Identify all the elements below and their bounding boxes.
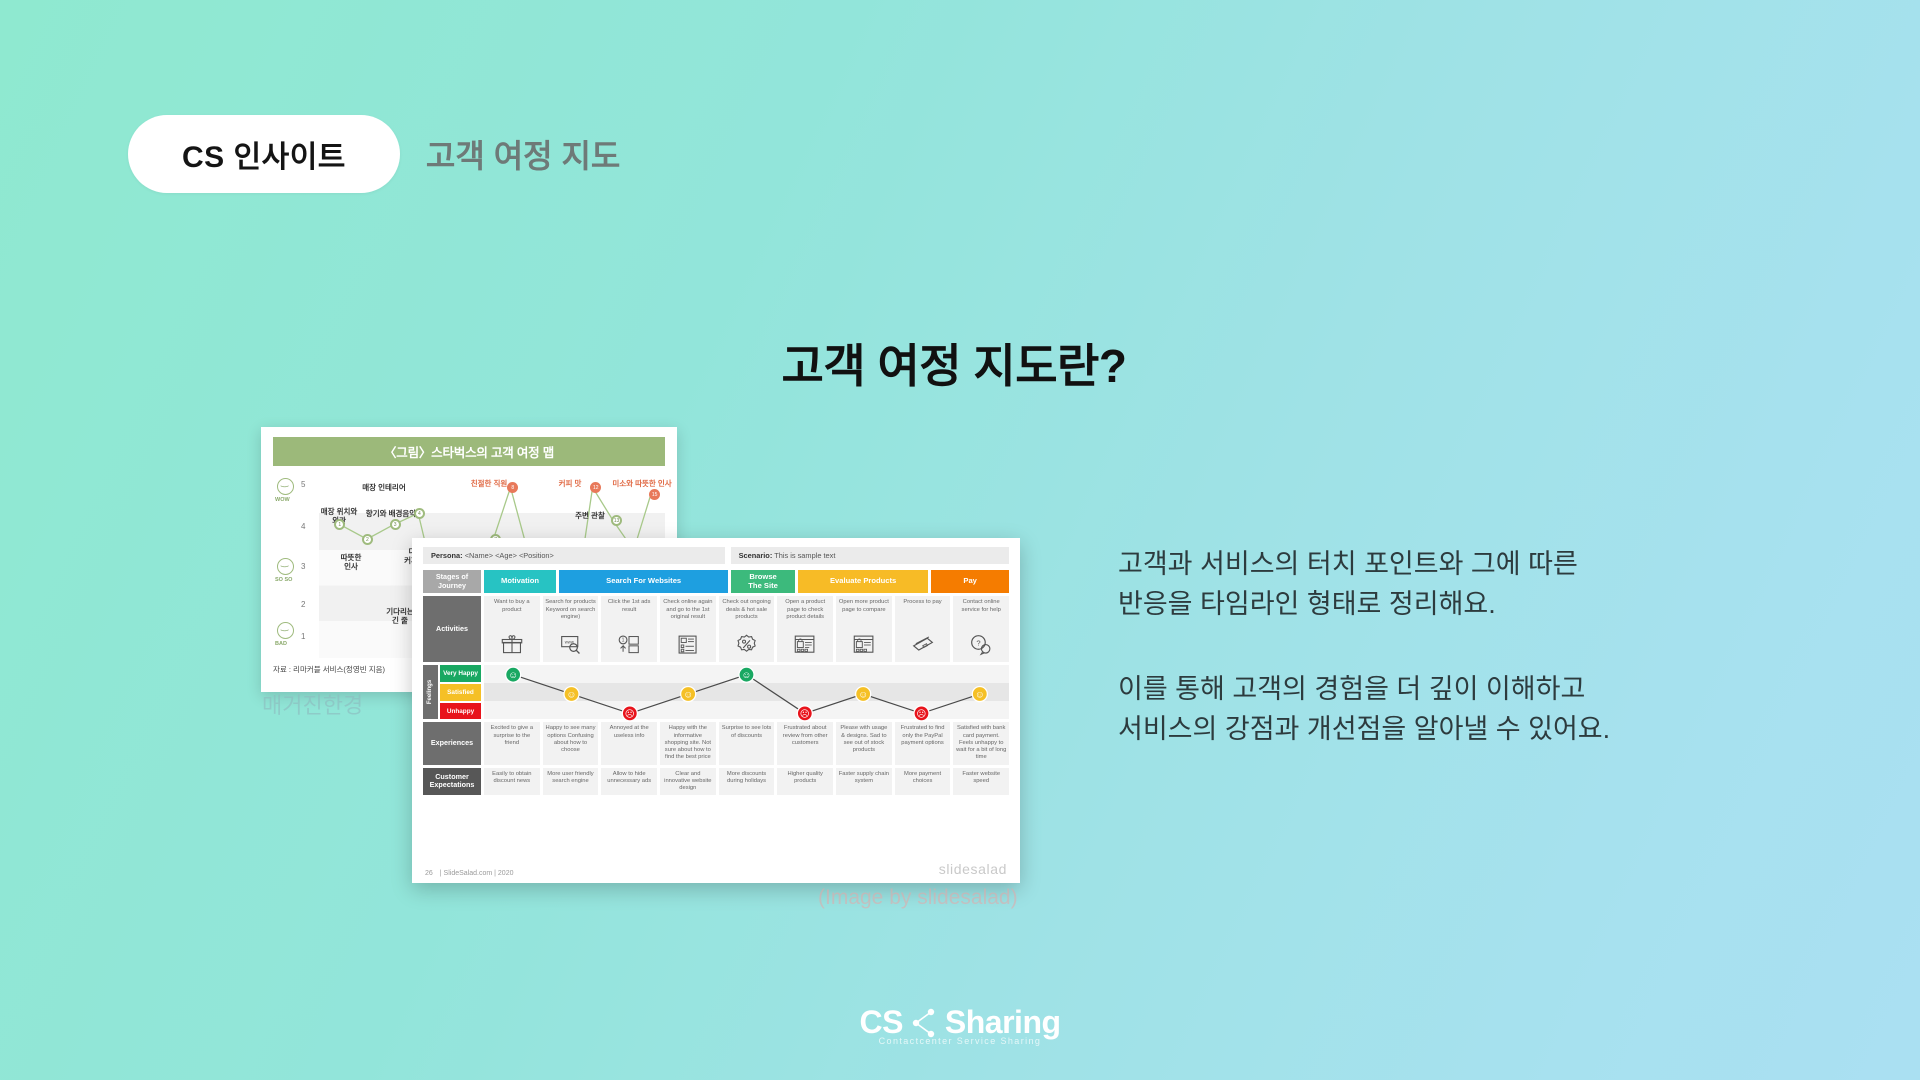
product-page-icon: [794, 634, 816, 656]
feeling-face-0: ☺: [506, 668, 521, 683]
activity-cell-2: Click the 1st ads result1: [601, 596, 657, 662]
starbucks-point-3: 4: [414, 508, 425, 519]
feeling-face-1: ☺: [564, 687, 579, 702]
cs-insight-badge: CS 인사이트: [128, 115, 400, 193]
stage-3[interactable]: Evaluate Products: [798, 570, 928, 593]
svg-text:☺: ☺: [683, 690, 693, 701]
logo-sharing-text: Sharing: [945, 1004, 1061, 1041]
expectation-cell-1: More user friendly search engine: [543, 768, 599, 796]
cs-insight-badge-label: CS 인사이트: [182, 132, 346, 176]
feeling-face-3: ☺: [681, 687, 696, 702]
scenario-value: This is sample text: [774, 551, 835, 560]
activity-text-6: Open more product page to compare: [838, 599, 890, 613]
expectation-cell-4: More discounts during holidays: [719, 768, 775, 796]
starbucks-point-1: 2: [362, 534, 373, 545]
activity-text-1: Search for products Keyword on search en…: [545, 599, 597, 621]
credit-card-icon: [912, 634, 934, 656]
compare-page-icon: [853, 634, 875, 656]
feeling-face-7: ☹: [914, 706, 929, 721]
activity-cell-5: Open a product page to check product det…: [777, 596, 833, 662]
gift-icon: [501, 634, 523, 656]
bad-face-icon: [277, 622, 294, 639]
stages-container: MotivationSearch For WebsitesBrowse The …: [484, 570, 1009, 593]
y-tick-1: 1: [301, 632, 305, 641]
discount-badge-icon: [736, 634, 758, 656]
expectation-cell-3: Clear and innovative website design: [660, 768, 716, 796]
stage-2[interactable]: Browse The Site: [731, 570, 795, 593]
expectation-cell-2: Allow to hide unnecessary ads: [601, 768, 657, 796]
svg-text:☹: ☹: [916, 708, 926, 720]
y-tick-2: 2: [301, 600, 305, 609]
bad-face-label: BAD: [275, 641, 287, 647]
stages-row: Stages of Journey MotivationSearch For W…: [423, 570, 1009, 593]
page-title: 고객 여정 지도란?: [0, 330, 1920, 396]
feeling-level-very-happy: Very Happy: [440, 665, 481, 682]
feeling-face-6: ☺: [856, 687, 871, 702]
expectation-cell-5: Higher quality products: [777, 768, 833, 796]
persona-scenario-row: Persona: <Name> <Age> <Position> Scenari…: [423, 547, 1009, 564]
journey-map-grid: Stages of Journey MotivationSearch For W…: [423, 570, 1009, 856]
experiences-container: Excited to give a surprise to the friend…: [484, 722, 1009, 764]
page-number: 26: [425, 870, 433, 877]
expectation-cell-6: Faster supply chain system: [836, 768, 892, 796]
experience-cell-0: Excited to give a surprise to the friend: [484, 722, 540, 764]
slidesalad-footer: 26 | SlideSalad.com | 2020 slidesalad: [423, 861, 1009, 877]
y-tick-4: 4: [301, 522, 305, 531]
activity-cell-6: Open more product page to compare: [836, 596, 892, 662]
feeling-level-unhappy: Unhappy: [440, 703, 481, 720]
experience-cell-7: Frustrated to find only the PayPal payme…: [895, 722, 951, 764]
expectation-cell-0: Easily to obtain discount news: [484, 768, 540, 796]
svg-text:☹: ☹: [800, 708, 810, 720]
activity-cell-8: Contact online service for help?: [953, 596, 1009, 662]
compare-page-icon: [853, 634, 875, 656]
svg-text:☺: ☺: [858, 690, 868, 701]
form-list-icon: [677, 634, 699, 656]
soso-face-label: SO SO: [275, 577, 292, 583]
experiences-row: Experiences Excited to give a surprise t…: [423, 722, 1009, 764]
back-image-caption: 매거진한경: [262, 688, 363, 720]
footer-note: | SlideSalad.com | 2020: [440, 870, 514, 877]
feeling-face-5: ☹: [797, 706, 812, 721]
body-paragraph-2: 이를 통해 고객의 경험을 더 깊이 이해하고 서비스의 강점과 개선점을 알아…: [1118, 670, 1818, 749]
feeling-level-satisfied: Satisfied: [440, 684, 481, 701]
body-paragraph-1: 고객과 서비스의 터치 포인트와 그에 따른 반응을 타임라인 형태로 정리해요…: [1118, 545, 1818, 624]
activity-cell-4: Check out ongoing deals & hot sale produ…: [719, 596, 775, 662]
starbucks-map-title: 〈그림〉스타벅스의 고객 여정 맵: [273, 437, 665, 466]
y-tick-5: 5: [301, 480, 305, 489]
stages-row-header: Stages of Journey: [423, 570, 481, 593]
help-chat-icon: ?: [970, 634, 992, 656]
expectations-row: Customer Expectations Easily to obtain d…: [423, 768, 1009, 796]
experience-cell-5: Frustrated about review from other custo…: [777, 722, 833, 764]
expectation-cell-7: More payment choices: [895, 768, 951, 796]
activities-row: Activities Want to buy a productSearch f…: [423, 596, 1009, 662]
slide-header: CS 인사이트 고객 여정 지도: [128, 115, 620, 193]
scenario-label: Scenario:: [739, 551, 773, 560]
sb-label-8: 주변 관찰: [567, 512, 613, 521]
product-page-icon: [794, 634, 816, 656]
gift-icon: [501, 634, 523, 656]
persona-value: <Name> <Age> <Position>: [465, 551, 554, 560]
experience-cell-3: Happy with the informative shopping site…: [660, 722, 716, 764]
svg-text:☹: ☹: [625, 708, 635, 720]
feelings-row: Feelings Very HappySatisfiedUnhappy ☺☺☹☺…: [423, 665, 1009, 719]
activities-container: Want to buy a productSearch for products…: [484, 596, 1009, 662]
svg-text:1: 1: [622, 638, 625, 644]
experience-cell-8: Satisfied with bank card payment. Feels …: [953, 722, 1009, 764]
svg-text:?: ?: [977, 639, 981, 648]
help-chat-icon: ?: [970, 634, 992, 656]
soso-face-icon: [277, 558, 294, 575]
activity-text-0: Want to buy a product: [486, 599, 538, 613]
activity-cell-0: Want to buy a product: [484, 596, 540, 662]
scenario-field: Scenario: This is sample text: [731, 547, 1009, 564]
feeling-face-2: ☹: [622, 706, 637, 721]
page-title-text: 고객 여정 지도란?: [782, 330, 1127, 396]
stage-4[interactable]: Pay: [931, 570, 1009, 593]
activity-text-7: Process to pay: [903, 599, 941, 606]
front-image-caption: (Image by slidesalad): [818, 886, 1018, 910]
header-subtitle: 고객 여정 지도: [426, 131, 620, 177]
feelings-side-label: Feelings: [423, 665, 438, 719]
svg-text:☺: ☺: [742, 671, 752, 682]
stage-1[interactable]: Search For Websites: [559, 570, 728, 593]
search-web-icon: www: [560, 634, 582, 656]
feelings-plot: ☺☺☹☺☺☹☺☹☺: [484, 665, 1009, 719]
discount-badge-icon: [736, 634, 758, 656]
slidesalad-brand: slidesalad: [939, 861, 1007, 877]
network-node-icon: [911, 1008, 937, 1038]
experience-cell-1: Happy to see many options Confusing abou…: [543, 722, 599, 764]
activity-cell-3: Check online again and go to the 1st ori…: [660, 596, 716, 662]
feelings-side-text: Feelings: [428, 680, 434, 704]
activity-cell-1: Search for products Keyword on search en…: [543, 596, 599, 662]
feelings-trend-line: ☺☺☹☺☺☹☺☹☺: [484, 665, 1009, 723]
expectations-container: Easily to obtain discount newsMore user …: [484, 768, 1009, 796]
svg-text:☺: ☺: [508, 671, 518, 682]
feeling-face-8: ☺: [972, 687, 987, 702]
activity-text-2: Click the 1st ads result: [603, 599, 655, 613]
search-web-icon: www: [560, 634, 582, 656]
experience-cell-6: Please with usage & designs. Sad to see …: [836, 722, 892, 764]
sb-label-7: 커피 맛: [547, 480, 593, 489]
activities-row-header: Activities: [423, 596, 481, 662]
form-list-icon: [677, 634, 699, 656]
y-tick-3: 3: [301, 562, 305, 571]
activity-text-5: Open a product page to check product det…: [779, 599, 831, 621]
experiences-row-header: Experiences: [423, 722, 481, 764]
activity-text-8: Contact online service for help: [955, 599, 1007, 613]
activity-cell-7: Process to pay: [895, 596, 951, 662]
slidesalad-journey-map-image: Persona: <Name> <Age> <Position> Scenari…: [412, 538, 1020, 883]
svg-text:☺: ☺: [567, 690, 577, 701]
sb-label-3: 따뜻한 인사: [331, 554, 371, 571]
feeling-level-labels: Very HappySatisfiedUnhappy: [440, 665, 481, 719]
wow-face-label: WOW: [275, 497, 290, 503]
ranked-list-icon: 1: [618, 634, 640, 656]
persona-label: Persona:: [431, 551, 463, 560]
wow-face-icon: [277, 478, 294, 495]
ranked-list-icon: 1: [618, 634, 640, 656]
activity-text-3: Check online again and go to the 1st ori…: [662, 599, 714, 621]
experience-cell-2: Annoyed at the useless info: [601, 722, 657, 764]
sb-label-9: 미소와 따뜻한 인사: [603, 480, 677, 489]
cs-sharing-logo: CS Sharing Contactcenter Service Sharing: [0, 1004, 1920, 1046]
credit-card-icon: [912, 634, 934, 656]
sb-label-1: 매장 인테리어: [355, 484, 413, 493]
feelings-row-header: Feelings Very HappySatisfiedUnhappy: [423, 665, 481, 719]
feeling-face-4: ☺: [739, 668, 754, 683]
expectation-cell-8: Faster website speed: [953, 768, 1009, 796]
experience-cell-4: Surprise to see lots of discounts: [719, 722, 775, 764]
persona-field: Persona: <Name> <Age> <Position>: [423, 547, 725, 564]
starbucks-y-axis: WOW SO SO BAD 5 4 3 2 1: [273, 472, 319, 658]
starbucks-point-2: 3: [390, 519, 401, 530]
expectations-row-header: Customer Expectations: [423, 768, 481, 796]
activity-text-4: Check out ongoing deals & hot sale produ…: [721, 599, 773, 621]
svg-text:☺: ☺: [975, 690, 985, 701]
body-copy: 고객과 서비스의 터치 포인트와 그에 따른 반응을 타임라인 형태로 정리해요…: [1118, 545, 1818, 750]
stage-0[interactable]: Motivation: [484, 570, 556, 593]
